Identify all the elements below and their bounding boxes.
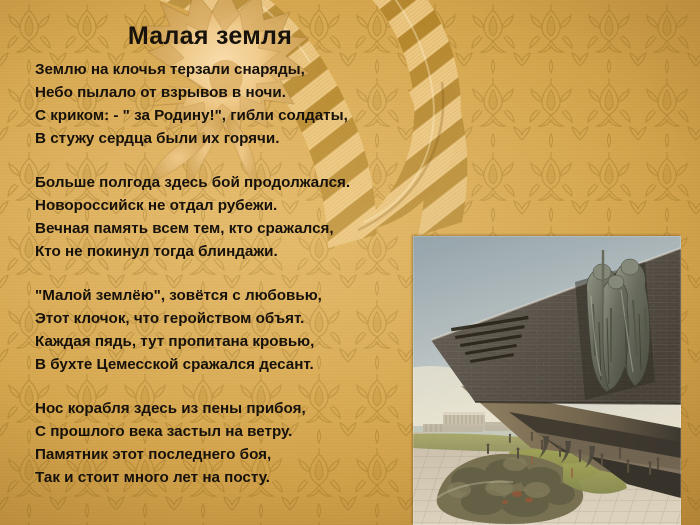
- poem-line: С криком: - " за Родину!", гибли солдаты…: [35, 104, 405, 127]
- malaya-zemlya-memorial-photo: [413, 236, 681, 525]
- memorial-photo-svg: [413, 236, 681, 525]
- poem-stanza: Нос корабля здесь из пены прибоя, С прош…: [35, 397, 405, 489]
- poem-line: Этот клочок, что геройством объят.: [35, 307, 405, 330]
- poem-line: "Малой землёю", зовётся с любовью,: [35, 284, 405, 307]
- poem-line: В стужу сердца были их горячи.: [35, 127, 405, 150]
- poem-line: Больше полгода здесь бой продолжался.: [35, 171, 405, 194]
- poem-stanza: Землю на клочья терзали снаряды, Небо пы…: [35, 58, 405, 150]
- poem-line: Вечная память всем тем, кто сражался,: [35, 217, 405, 240]
- poem-stanza: Больше полгода здесь бой продолжался. Но…: [35, 171, 405, 263]
- poem-line: Нос корабля здесь из пены прибоя,: [35, 397, 405, 420]
- poem-line: Землю на клочья терзали снаряды,: [35, 58, 405, 81]
- poem-stanza: "Малой землёю", зовётся с любовью, Этот …: [35, 284, 405, 376]
- poem-line: Кто не покинул тогда блиндажи.: [35, 240, 405, 263]
- poem-line: Небо пылало от взрывов в ночи.: [35, 81, 405, 104]
- poem-line: Каждая пядь, тут пропитана кровью,: [35, 330, 405, 353]
- poem-line: Так и стоит много лет на посту.: [35, 466, 405, 489]
- page-title: Малая земля: [0, 22, 420, 51]
- poem-line: С прошлого века застыл на ветру.: [35, 420, 405, 443]
- slide-root: Малая земля Землю на клочья терзали снар…: [0, 0, 700, 525]
- poem-body: Землю на клочья терзали снаряды, Небо пы…: [35, 58, 405, 489]
- poem-line: Памятник этот последнего боя,: [35, 443, 405, 466]
- poem-line: В бухте Цемесской сражался десант.: [35, 353, 405, 376]
- poem-line: Новороссийск не отдал рубежи.: [35, 194, 405, 217]
